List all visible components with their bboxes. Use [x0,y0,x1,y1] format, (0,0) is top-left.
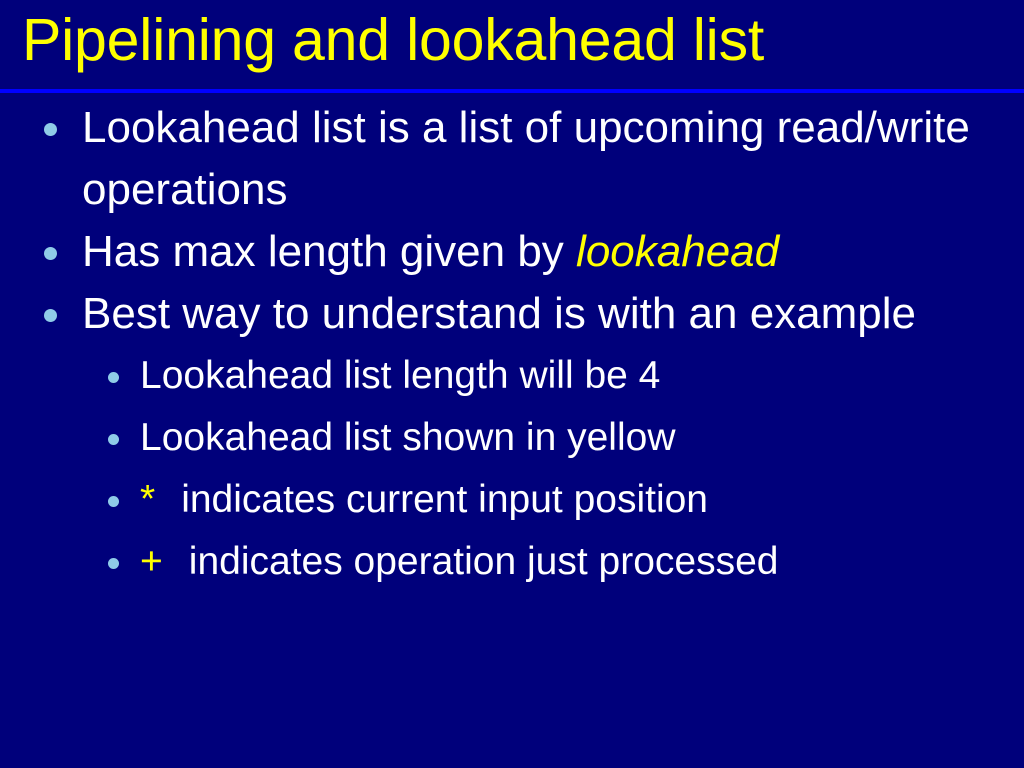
list-item: *indicates current input position [0,469,1024,531]
title-band: Pipelining and lookahead list [0,0,1024,89]
bullet-list: Lookahead list is a list of upcoming rea… [0,93,1024,768]
bullet-marker-icon [108,558,119,569]
plus-symbol-icon: + [140,540,163,583]
asterisk-symbol-icon: * [140,478,155,521]
list-item: Has max length given by lookahead [0,221,1024,283]
list-item-label: *indicates current input position [140,469,1010,531]
list-item-text-after: indicates operation just processed [189,540,779,583]
list-item: Lookahead list is a list of upcoming rea… [0,97,1024,221]
list-item-label: +indicates operation just processed [140,531,1010,593]
list-item: Lookahead list length will be 4 [0,345,1024,407]
bullet-marker-icon [44,309,57,322]
emphasis-lookahead: lookahead [576,227,779,276]
bullet-marker-icon [44,247,57,260]
list-item-text-after: indicates current input position [181,478,708,521]
list-item: Best way to understand is with an exampl… [0,283,1024,345]
list-item-text-before: Has max length given by [82,227,576,276]
list-item: +indicates operation just processed [0,531,1024,593]
list-item: Lookahead list shown in yellow [0,407,1024,469]
list-item-label: Lookahead list is a list of upcoming rea… [82,97,1010,221]
list-item-label: Lookahead list length will be 4 [140,345,1010,407]
bullet-marker-icon [108,434,119,445]
list-item-label: Lookahead list shown in yellow [140,407,1010,469]
slide: Pipelining and lookahead list Lookahead … [0,0,1024,768]
page-title: Pipelining and lookahead list [22,2,1012,78]
bullet-marker-icon [108,372,119,383]
bullet-marker-icon [44,123,57,136]
list-item-label: Has max length given by lookahead [82,221,1010,283]
bullet-marker-icon [108,496,119,507]
list-item-label: Best way to understand is with an exampl… [82,283,1010,345]
